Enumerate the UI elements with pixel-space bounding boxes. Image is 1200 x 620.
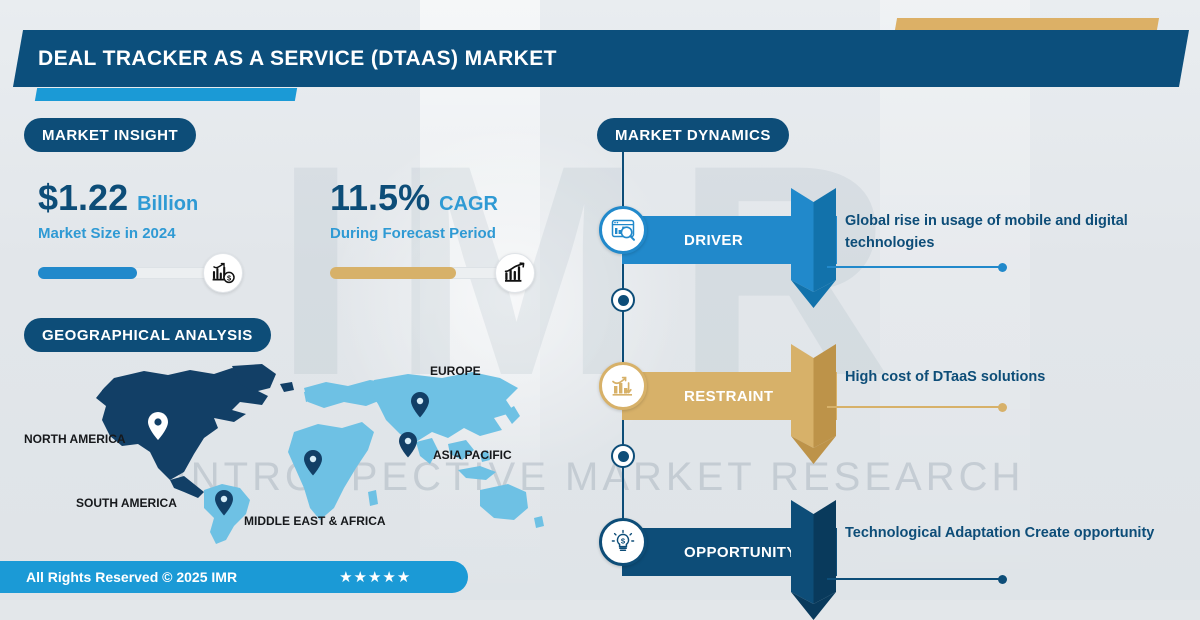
infographic-canvas: IMR INTROSPECTIVE MARKET RESEARCH DEAL T…: [0, 0, 1200, 600]
page-title: DEAL TRACKER AS A SERVICE (DTAAS) MARKET: [18, 30, 1184, 87]
kpi-progress-fill: [38, 267, 137, 279]
kpi-cagr: 11.5% CAGR During Forecast Period: [330, 180, 535, 290]
market-dynamics-timeline: DRIVER Gl: [595, 150, 1200, 590]
map-central-america: [170, 476, 204, 498]
map-indonesia: [458, 466, 496, 480]
dynamics-row-restraint: RESTRAINT: [595, 344, 1200, 464]
kpi-value: 11.5%: [330, 180, 430, 216]
map-label-middle-east-africa: MIDDLE EAST & AFRICA: [244, 514, 386, 528]
bar-chart-dollar-icon: $: [203, 253, 243, 293]
dynamics-ribbon-restraint: [791, 344, 836, 464]
map-label-europe: EUROPE: [430, 364, 481, 378]
map-asia: [370, 372, 518, 442]
map-iceland: [280, 382, 294, 392]
dynamics-underline-driver: [827, 266, 1003, 268]
footer-rating-stars: ★★★★★: [339, 568, 411, 586]
svg-text:$: $: [621, 537, 626, 546]
section-heading-market-dynamics: MARKET DYNAMICS: [597, 118, 789, 152]
dynamics-row-opportunity: OPPORTUNITY $: [595, 500, 1200, 620]
header-gold-accent: [895, 18, 1159, 30]
world-map: NORTH AMERICA SOUTH AMERICA MIDDLE EAST …: [18, 358, 574, 544]
kpi-value: $1.22: [38, 180, 128, 216]
footer-bar: All Rights Reserved © 2025 IMR ★★★★★: [0, 561, 468, 593]
map-madagascar: [368, 490, 378, 506]
kpi-progress: $: [38, 256, 243, 290]
map-label-north-america: NORTH AMERICA: [24, 432, 126, 446]
kpi-unit: CAGR: [439, 194, 498, 214]
kpi-market-size: $1.22 Billion Market Size in 2024 $: [38, 180, 243, 290]
map-australia: [480, 484, 528, 520]
kpi-label: Market Size in 2024: [38, 225, 243, 242]
map-africa: [288, 422, 374, 520]
map-new-zealand: [534, 516, 544, 528]
section-heading-geographical-analysis: GEOGRAPHICAL ANALYSIS: [24, 318, 271, 352]
footer-copyright: All Rights Reserved © 2025 IMR: [26, 569, 237, 585]
map-label-asia-pacific: ASIA PACIFIC: [433, 448, 512, 462]
dynamics-ribbon-opportunity: [791, 500, 836, 620]
kpi-unit: Billion: [137, 194, 198, 214]
dynamics-ribbon-driver: [791, 188, 836, 308]
header-blue-accent: [35, 88, 297, 101]
kpi-value-row: 11.5% CAGR: [330, 180, 535, 216]
kpi-progress-fill: [330, 267, 456, 279]
dynamics-text-restraint: High cost of DTaaS solutions: [845, 366, 1175, 388]
map-label-south-america: SOUTH AMERICA: [76, 496, 177, 510]
kpi-progress: [330, 256, 535, 290]
bar-chart-down-icon: [599, 362, 647, 410]
dynamics-text-opportunity: Technological Adaptation Create opportun…: [845, 522, 1175, 544]
lightbulb-dollar-icon: $: [599, 518, 647, 566]
kpi-value-row: $1.22 Billion: [38, 180, 243, 216]
section-heading-market-insight: MARKET INSIGHT: [24, 118, 196, 152]
trending-up-chart-icon: [495, 253, 535, 293]
dynamics-row-driver: DRIVER Gl: [595, 188, 1200, 308]
kpi-label: During Forecast Period: [330, 225, 535, 242]
analytics-search-icon: [599, 206, 647, 254]
dynamics-text-driver: Global rise in usage of mobile and digit…: [845, 210, 1175, 255]
dynamics-underline-opportunity: [827, 578, 1003, 580]
map-pin-asia-pacific: [399, 432, 417, 458]
svg-text:$: $: [227, 273, 231, 282]
dynamics-underline-restraint: [827, 406, 1003, 408]
